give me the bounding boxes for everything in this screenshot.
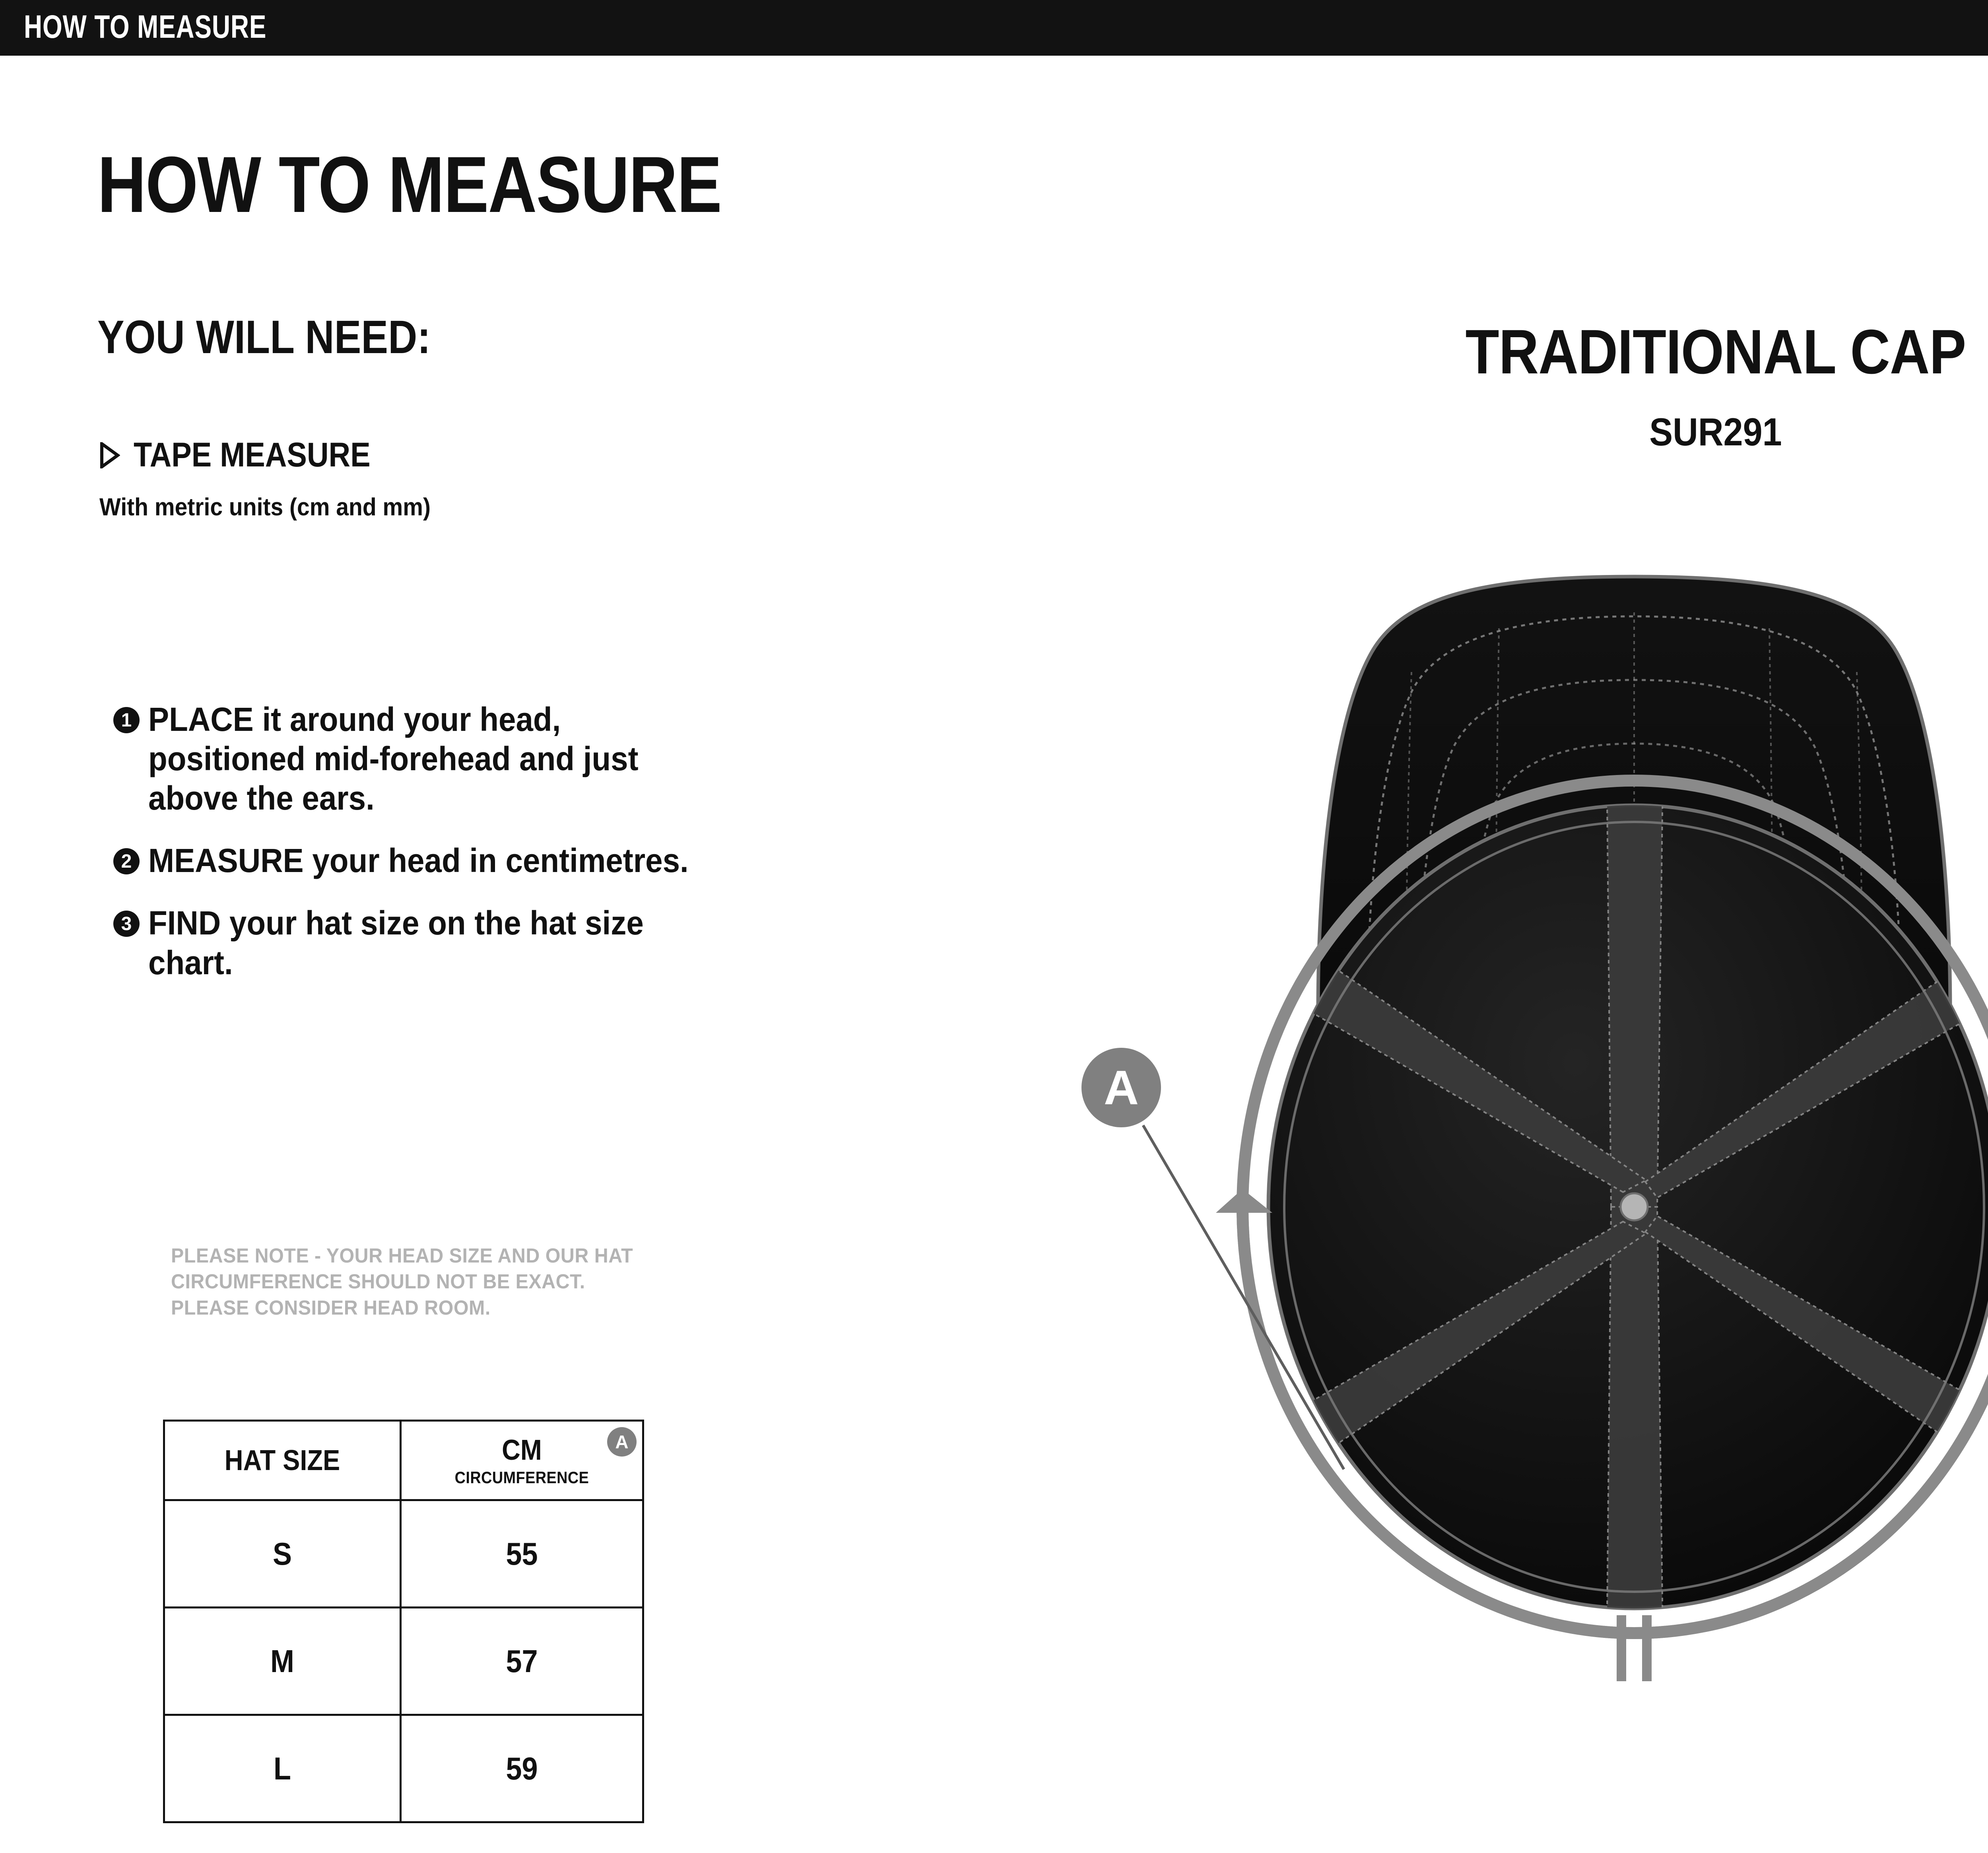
table-row: M 57 xyxy=(164,1608,643,1715)
cell-cm: 57 xyxy=(401,1608,643,1715)
header-title: HOW TO MEASURE xyxy=(24,8,266,46)
table-row: L 59 xyxy=(164,1715,643,1822)
cell-hat-size: S xyxy=(164,1500,401,1608)
cell-cm: 59 xyxy=(401,1715,643,1822)
list-item: 3 FIND your hat size on the hat size cha… xyxy=(113,903,849,982)
step-text: PLACE it around your head, positioned mi… xyxy=(148,700,725,818)
cap-illustration: A xyxy=(1070,553,1988,1853)
steps-list: 1 PLACE it around your head, positioned … xyxy=(113,700,849,1006)
column-header-cm-circumference: CM CIRCUMFERENCE A xyxy=(401,1421,643,1500)
tape-end-ticks xyxy=(1621,1615,1647,1681)
step-number-badge: 3 xyxy=(113,911,140,937)
how-to-measure-page: HOW TO MEASURE SURRIDGE HOW TO MEASURE Y… xyxy=(0,0,1988,1853)
step-text: FIND your hat size on the hat size chart… xyxy=(148,903,725,982)
list-item: 1 PLACE it around your head, positioned … xyxy=(113,700,849,818)
product-title: TRADITIONAL CAP xyxy=(1287,316,1988,388)
disclaimer-note: PLEASE NOTE - YOUR HEAD SIZE AND OUR HAT… xyxy=(171,1243,633,1321)
step-number-badge: 1 xyxy=(113,707,140,733)
need-item-sublabel: With metric units (cm and mm) xyxy=(99,493,431,521)
step-text: MEASURE your head in centimetres. xyxy=(148,841,725,880)
measurement-badge-a: A xyxy=(607,1427,637,1457)
cell-cm: 55 xyxy=(401,1500,643,1608)
column-header-hat-size: HAT SIZE xyxy=(164,1421,401,1500)
table-row: S 55 xyxy=(164,1500,643,1608)
cell-hat-size: L xyxy=(164,1715,401,1822)
need-item-label: TAPE MEASURE xyxy=(134,435,371,475)
svg-text:A: A xyxy=(1104,1061,1139,1115)
cell-hat-size: M xyxy=(164,1608,401,1715)
top-header-bar: HOW TO MEASURE SURRIDGE xyxy=(0,0,1988,56)
hat-size-chart-table: HAT SIZE CM CIRCUMFERENCE A S 55 xyxy=(163,1420,644,1823)
crown-button xyxy=(1621,1193,1648,1220)
product-code: SUR291 xyxy=(1277,410,1988,455)
table-header-row: HAT SIZE CM CIRCUMFERENCE A xyxy=(164,1421,643,1500)
need-item-tape-measure: TAPE MEASURE xyxy=(99,435,403,475)
you-will-need-heading: YOU WILL NEED: xyxy=(97,310,431,364)
step-number-badge: 2 xyxy=(113,848,140,874)
list-item: 2 MEASURE your head in centimetres. xyxy=(113,841,849,880)
page-title: HOW TO MEASURE xyxy=(97,139,721,231)
triangle-right-icon xyxy=(99,442,120,468)
